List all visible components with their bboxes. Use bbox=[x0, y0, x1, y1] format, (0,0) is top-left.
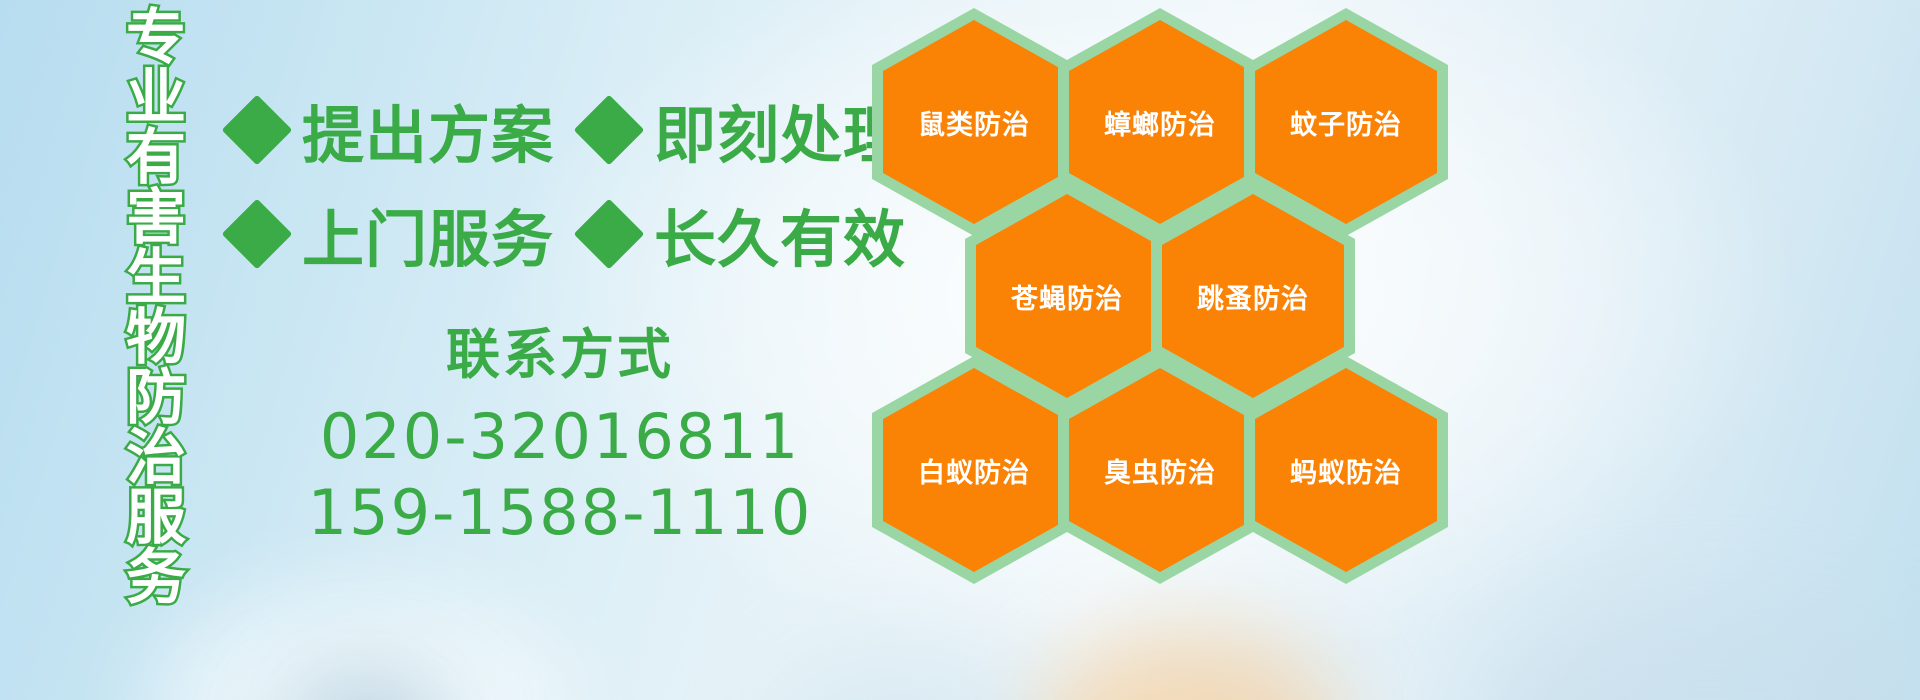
service-hex-label: 蚂蚁防治 bbox=[1290, 451, 1402, 490]
vertical-headline-char: 服 bbox=[126, 488, 186, 548]
pest-control-service-banner: 专 业 有 害 生 物 防 治 服 务 提出方案 即刻处理 上门服务 bbox=[0, 0, 1920, 700]
diamond-bullet-icon bbox=[222, 199, 293, 270]
feature-item-long-lasting-effect: 长久有效 bbox=[584, 189, 906, 279]
hex-inner: 蟑螂防治 bbox=[1069, 20, 1251, 224]
hex-inner: 苍蝇防治 bbox=[976, 194, 1158, 398]
contact-block: 联系方式 020-32016811 159-1588-1110 bbox=[250, 310, 870, 550]
contact-phone-mobile[interactable]: 159-1588-1110 bbox=[250, 475, 870, 551]
service-hex-label: 跳蚤防治 bbox=[1197, 277, 1309, 316]
vertical-headline-char: 治 bbox=[126, 428, 186, 488]
service-hex-label: 蟑螂防治 bbox=[1104, 103, 1216, 142]
vertical-headline-char: 物 bbox=[126, 308, 186, 368]
background-haze-blob bbox=[1040, 630, 1340, 700]
vertical-headline-char: 专 bbox=[126, 8, 186, 68]
feature-label: 上门服务 bbox=[302, 189, 554, 279]
feature-list: 提出方案 即刻处理 上门服务 长久有效 bbox=[232, 78, 872, 286]
vertical-headline-char: 害 bbox=[126, 188, 186, 248]
vertical-headline-char: 防 bbox=[126, 368, 186, 428]
feature-row: 上门服务 长久有效 bbox=[232, 182, 872, 286]
vertical-headline-char: 有 bbox=[126, 128, 186, 188]
vertical-headline-char: 业 bbox=[126, 68, 186, 128]
hex-inner: 鼠类防治 bbox=[883, 20, 1065, 224]
feature-item-propose-plan: 提出方案 bbox=[232, 85, 554, 175]
vertical-headline-char: 生 bbox=[126, 248, 186, 308]
feature-item-immediate-handling: 即刻处理 bbox=[584, 85, 906, 175]
contact-phone-landline[interactable]: 020-32016811 bbox=[250, 399, 870, 475]
background-haze-blob bbox=[760, 640, 1060, 700]
background-haze-blob bbox=[150, 590, 570, 700]
diamond-bullet-icon bbox=[222, 95, 293, 166]
service-hex-label: 鼠类防治 bbox=[918, 103, 1030, 142]
hex-inner: 白蚁防治 bbox=[883, 368, 1065, 572]
diamond-bullet-icon bbox=[574, 95, 645, 166]
feature-label: 提出方案 bbox=[302, 85, 554, 175]
background-haze-blob bbox=[280, 670, 460, 700]
feature-row: 提出方案 即刻处理 bbox=[232, 78, 872, 182]
vertical-headline: 专 业 有 害 生 物 防 治 服 务 bbox=[104, 8, 208, 568]
contact-title: 联系方式 bbox=[250, 310, 870, 389]
vertical-headline-char: 务 bbox=[126, 548, 186, 608]
service-hex-label: 苍蝇防治 bbox=[1011, 277, 1123, 316]
background-haze-blob bbox=[1480, 600, 1920, 700]
hex-inner: 臭虫防治 bbox=[1069, 368, 1251, 572]
service-hex-label: 臭虫防治 bbox=[1104, 451, 1216, 490]
service-hex-label: 白蚁防治 bbox=[918, 451, 1030, 490]
hex-inner: 蚂蚁防治 bbox=[1255, 368, 1437, 572]
service-hex-label: 蚊子防治 bbox=[1290, 103, 1402, 142]
hex-inner: 蚊子防治 bbox=[1255, 20, 1437, 224]
diamond-bullet-icon bbox=[574, 199, 645, 270]
service-hexagon-grid: 鼠类防治 蟑螂防治 蚊子防治 苍蝇防治 跳蚤防治 白蚁防治 bbox=[862, 0, 1462, 560]
feature-item-door-to-door-service: 上门服务 bbox=[232, 189, 554, 279]
hex-inner: 跳蚤防治 bbox=[1162, 194, 1344, 398]
